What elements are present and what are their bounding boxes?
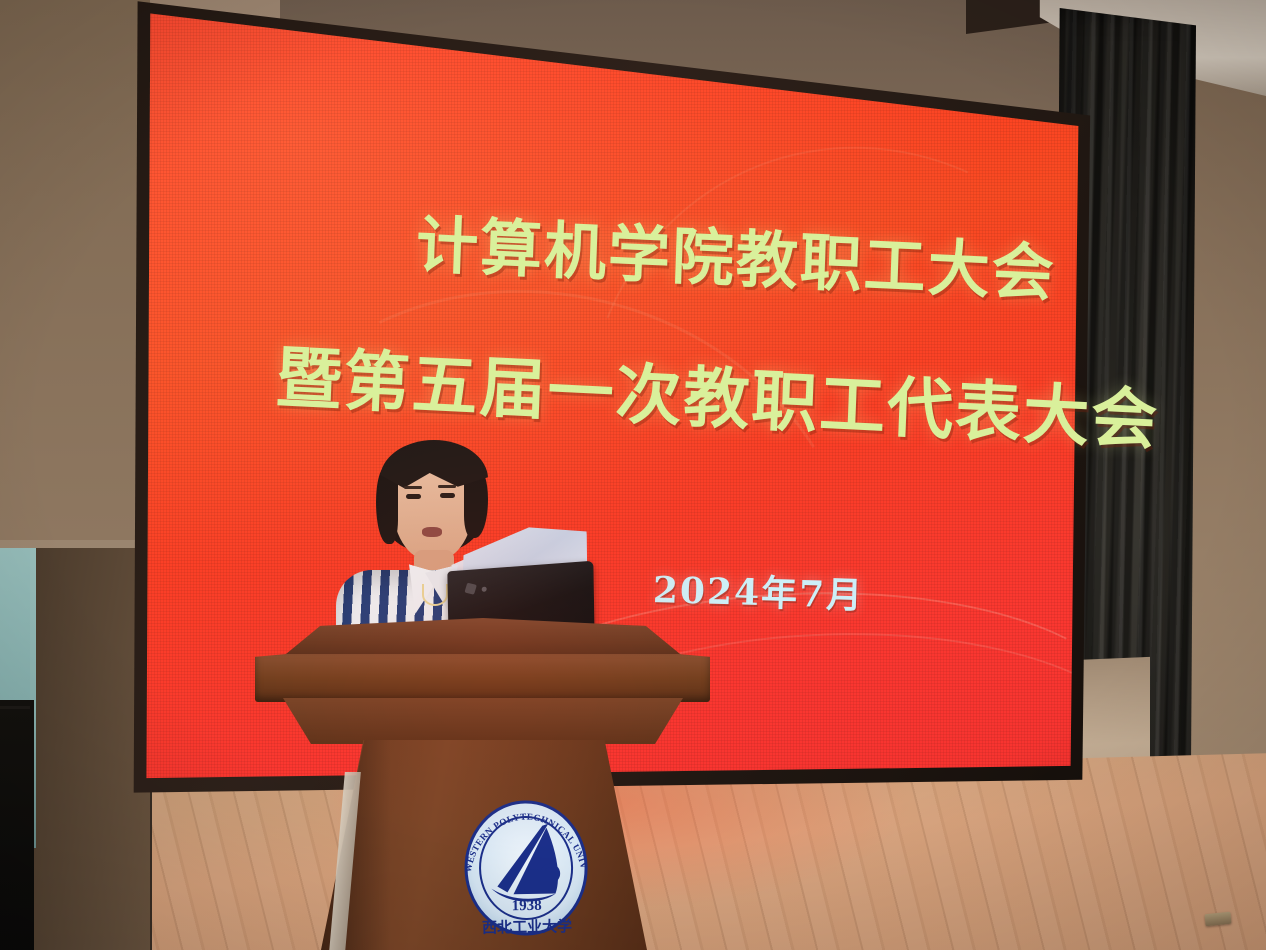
podium-mid-section bbox=[283, 698, 683, 744]
university-emblem: NORTHWESTERN POLYTECHNICAL UNIVERSITY 19… bbox=[450, 781, 603, 949]
doorway-jamb bbox=[30, 548, 150, 950]
speaker-eyebrow-left bbox=[404, 486, 422, 489]
speaker-necklace bbox=[422, 584, 448, 606]
av-cable bbox=[0, 706, 30, 732]
av-equipment bbox=[0, 700, 34, 950]
podium-front-lip bbox=[255, 654, 710, 702]
speaker-eye-left bbox=[406, 494, 421, 499]
speaker-mouth bbox=[422, 527, 442, 537]
speaker-eye-right bbox=[440, 493, 455, 498]
emblem-chinese-name: 西北工业大学 bbox=[482, 917, 572, 937]
podium: NORTHWESTERN POLYTECHNICAL UNIVERSITY 19… bbox=[255, 612, 710, 950]
speaker-eyebrow-right bbox=[438, 485, 456, 488]
conference-hall-photo: 计算机学院教职工大会 暨第五届一次教职工代表大会 2024年7月 bbox=[0, 0, 1266, 950]
laptop-camera-dot-icon bbox=[482, 587, 487, 592]
laptop-logo-icon bbox=[464, 583, 476, 595]
emblem-year: 1938 bbox=[512, 898, 542, 915]
